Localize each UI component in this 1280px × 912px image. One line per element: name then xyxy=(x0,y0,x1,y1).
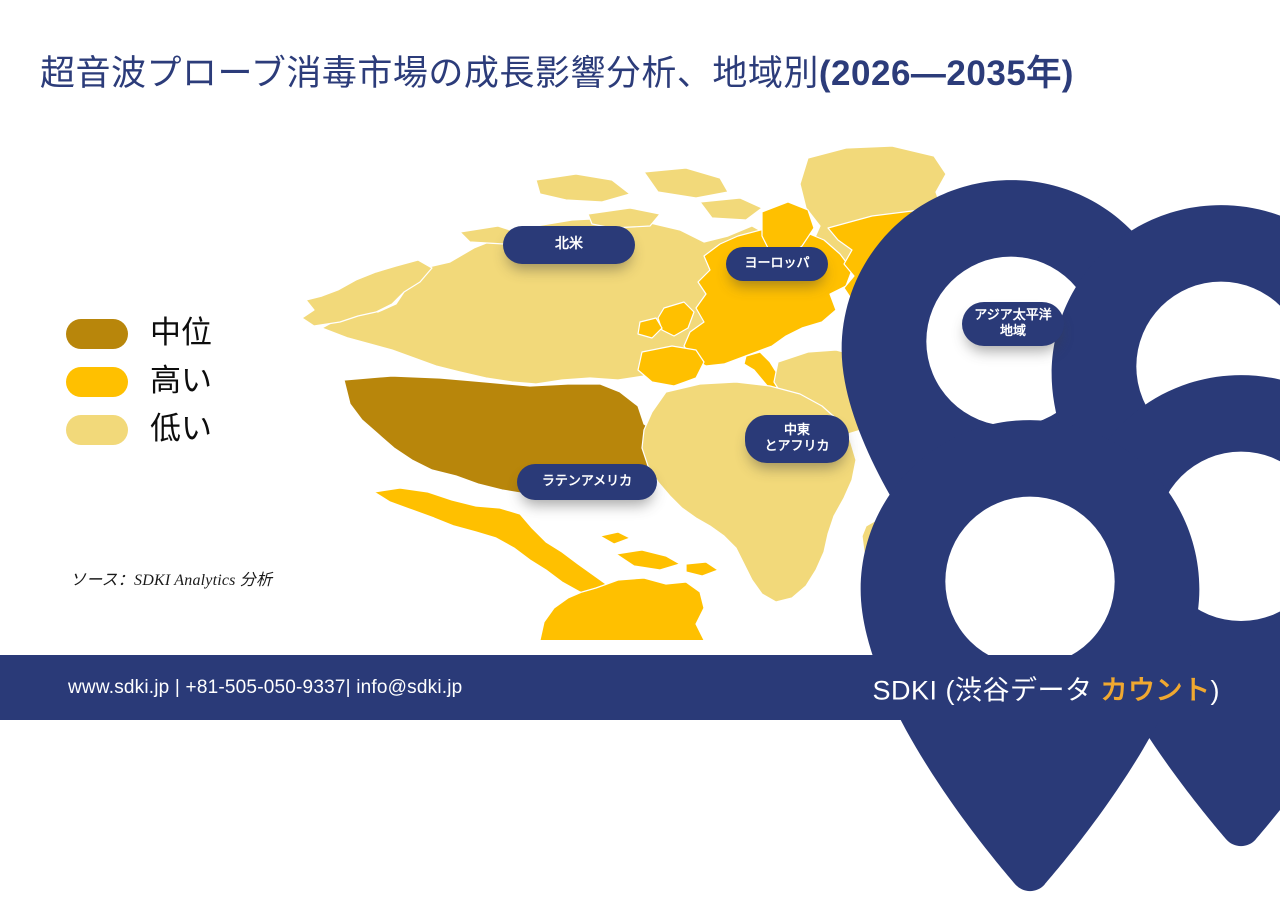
legend-label-medium: 中位 xyxy=(150,318,212,349)
legend-label-high: 高い xyxy=(150,366,212,397)
world-map: .low{fill:#f2d97a;} .mid{fill:#b8860b;} … xyxy=(300,140,1230,640)
legend-label-low: 低い xyxy=(150,414,212,445)
map-pin-north-america[interactable]: 北米 xyxy=(503,172,635,282)
slide-root: 超音波プローブ消毒市場の成長影響分析、地域別(2026—2035年) .low{… xyxy=(0,0,1280,720)
map-pin-europe[interactable]: ヨーロッパ xyxy=(726,197,828,301)
legend-swatch-low xyxy=(66,415,128,445)
legend: 中位 高い 低い xyxy=(66,310,316,454)
footer-brand-plain: SDKI (渋谷データ xyxy=(872,675,1100,705)
legend-swatch-high xyxy=(66,367,128,397)
legend-item-medium: 中位 xyxy=(66,310,316,357)
legend-item-high: 高い xyxy=(66,358,316,405)
map-pin-label-europe: ヨーロッパ xyxy=(726,247,828,281)
map-pin-asia-pacific[interactable]: アジア太平洋 地域 xyxy=(962,252,1064,368)
page-title-plain: 超音波プローブ消毒市場の成長影響分析、地域別 xyxy=(40,54,819,93)
footer-brand-accent: カウント xyxy=(1101,675,1211,705)
map-pin-label-north-america: 北米 xyxy=(503,226,635,264)
legend-item-low: 低い xyxy=(66,406,316,453)
map-pin-label-latin-america: ラテンアメリカ xyxy=(517,464,657,500)
source-note: ソース：SDKI Analytics 分析 xyxy=(70,566,272,590)
page-title-period: (2026—2035年) xyxy=(819,54,1074,93)
location-pin-icon xyxy=(546,172,592,234)
footer-bar: www.sdki.jp | +81-505-050-9337| info@sdk… xyxy=(0,655,1280,720)
legend-swatch-medium xyxy=(66,319,128,349)
map-pin-latin-america[interactable]: ラテンアメリカ xyxy=(517,412,657,522)
footer-contact[interactable]: www.sdki.jp | +81-505-050-9337| info@sdk… xyxy=(68,677,462,699)
location-pin-icon xyxy=(565,412,609,470)
page-title: 超音波プローブ消毒市場の成長影響分析、地域別(2026—2035年) xyxy=(40,52,1240,96)
location-pin-icon xyxy=(756,197,798,253)
map-pin-label-asia-pacific: アジア太平洋 地域 xyxy=(962,302,1064,346)
footer-brand-tail: ) xyxy=(1211,675,1221,705)
footer-brand: SDKI (渋谷データ カウント) xyxy=(872,668,1220,707)
